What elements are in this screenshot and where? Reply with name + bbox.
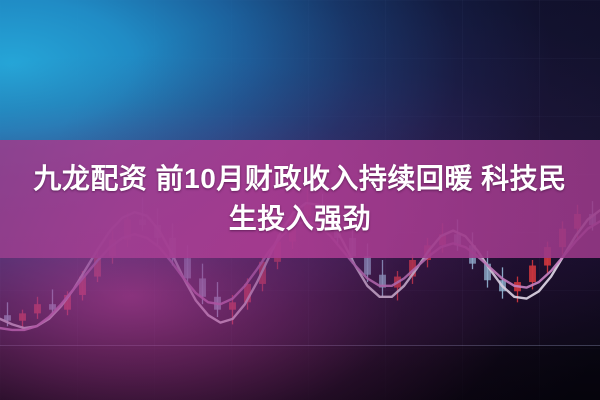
- article-hero-image: 九龙配资 前10月财政收入持续回暖 科技民生投入强劲: [0, 0, 600, 400]
- headline-title: 九龙配资 前10月财政收入持续回暖 科技民生投入强劲: [20, 159, 580, 239]
- headline-banner: 九龙配资 前10月财政收入持续回暖 科技民生投入强劲: [0, 140, 600, 258]
